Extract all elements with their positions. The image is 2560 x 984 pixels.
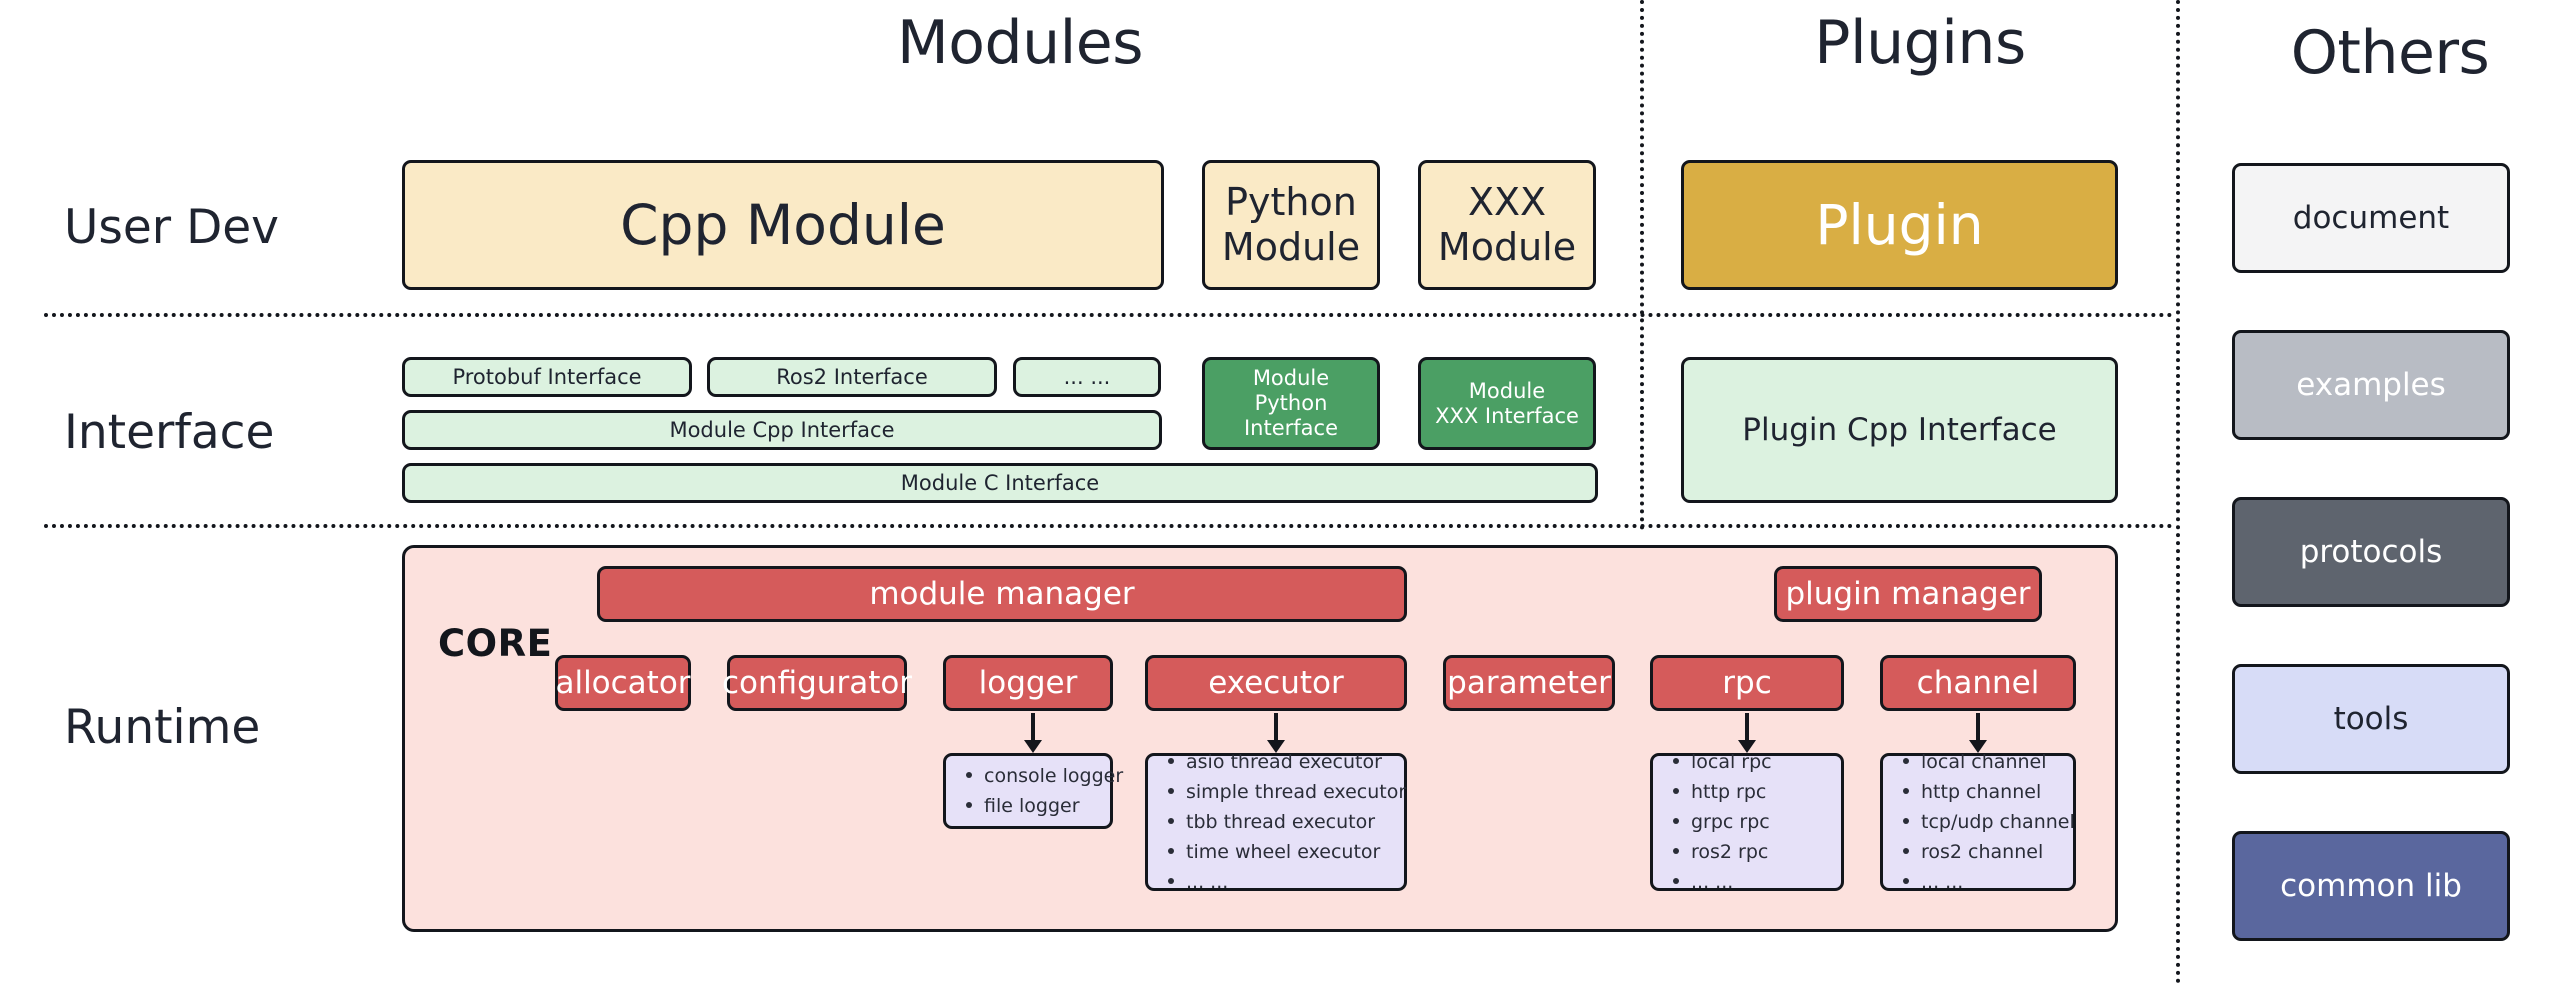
rpc-box[interactable]: rpc [1650,655,1844,711]
list-item: http rpc [1668,777,1828,807]
others-item-protocols[interactable]: protocols [2232,497,2510,607]
plugin-cpp-interface-label: Plugin Cpp Interface [1742,412,2056,449]
list-item: local channel [1898,747,2060,777]
divider-plugins-others [2176,0,2180,984]
channel-details-box: local channel http channel tcp/udp chann… [1880,753,2076,891]
cpp-module-box[interactable]: Cpp Module [402,160,1164,290]
module-c-interface-label: Module C Interface [901,471,1099,496]
others-item-tools[interactable]: tools [2232,664,2510,774]
xxx-module-box[interactable]: XXX Module [1418,160,1596,290]
others-common-lib-label: common lib [2280,868,2462,905]
others-tools-label: tools [2334,701,2409,738]
plugin-label: Plugin [1815,193,1983,258]
others-item-common-lib[interactable]: common lib [2232,831,2510,941]
row-label-user-dev: User Dev [64,200,279,255]
module-python-interface-box[interactable]: Module Python Interface [1202,357,1380,450]
ros2-interface-box[interactable]: Ros2 Interface [707,357,997,397]
module-c-interface-box[interactable]: Module C Interface [402,463,1598,503]
module-python-interface-label: Module Python Interface [1205,366,1377,440]
executor-details-box: asio thread executor simple thread execu… [1145,753,1407,891]
others-document-label: document [2293,200,2449,237]
channel-label: channel [1917,665,2040,702]
rpc-details-list: local rpc http rpc grpc rpc ros2 rpc ...… [1668,747,1828,897]
channel-details-list: local channel http channel tcp/udp chann… [1898,747,2060,897]
architecture-diagram: Modules Plugins Others User Dev Interfac… [0,0,2560,984]
arrow-logger-to-details [1023,713,1043,753]
logger-box[interactable]: logger [943,655,1113,711]
list-item: ros2 channel [1898,837,2060,867]
protobuf-interface-label: Protobuf Interface [452,365,641,390]
executor-details-list: asio thread executor simple thread execu… [1163,747,1391,897]
column-title-modules: Modules [400,8,1640,78]
cpp-module-label: Cpp Module [620,193,946,258]
list-item: tbb thread executor [1163,807,1391,837]
list-item: time wheel executor [1163,837,1391,867]
others-item-document[interactable]: document [2232,163,2510,273]
plugin-manager-label: plugin manager [1785,576,2030,613]
allocator-box[interactable]: allocator [555,655,691,711]
list-item: local rpc [1668,747,1828,777]
column-title-others: Others [2230,18,2550,88]
module-cpp-interface-box[interactable]: Module Cpp Interface [402,410,1162,450]
column-title-plugins: Plugins [1650,8,2190,78]
rpc-details-box: local rpc http rpc grpc rpc ros2 rpc ...… [1650,753,1844,891]
others-examples-label: examples [2296,367,2446,404]
others-item-examples[interactable]: examples [2232,330,2510,440]
executor-box[interactable]: executor [1145,655,1407,711]
row-label-runtime: Runtime [64,700,260,755]
others-protocols-label: protocols [2300,534,2443,571]
divider-userdev-interface [44,313,2174,317]
list-item: simple thread executor [1163,777,1391,807]
protobuf-interface-box[interactable]: Protobuf Interface [402,357,692,397]
plugin-cpp-interface-box[interactable]: Plugin Cpp Interface [1681,357,2118,503]
configurator-label: configurator [722,665,912,702]
ros2-interface-label: Ros2 Interface [776,365,928,390]
list-item: http channel [1898,777,2060,807]
executor-label: executor [1208,665,1344,702]
python-module-label: Python Module [1222,180,1360,270]
module-xxx-interface-label: Module XXX Interface [1435,379,1579,429]
plugin-manager-box[interactable]: plugin manager [1774,566,2042,622]
more-interface-box[interactable]: ... ... [1013,357,1161,397]
core-label: CORE [438,622,552,665]
channel-box[interactable]: channel [1880,655,2076,711]
logger-details-list: console logger file logger [961,761,1097,821]
list-item: file logger [961,791,1097,821]
list-item: asio thread executor [1163,747,1391,777]
logger-details-box: console logger file logger [943,753,1113,829]
list-item: tcp/udp channel [1898,807,2060,837]
configurator-box[interactable]: configurator [727,655,907,711]
list-item: ros2 rpc [1668,837,1828,867]
rpc-label: rpc [1722,665,1771,702]
list-item: grpc rpc [1668,807,1828,837]
logger-label: logger [979,665,1078,702]
list-item: console logger [961,761,1097,791]
parameter-box[interactable]: parameter [1443,655,1615,711]
module-manager-box[interactable]: module manager [597,566,1407,622]
list-item: ... ... [1898,867,2060,897]
divider-interface-runtime [44,524,2174,528]
divider-modules-plugins [1640,0,1644,530]
module-manager-label: module manager [869,576,1134,613]
module-cpp-interface-label: Module Cpp Interface [669,418,894,443]
xxx-module-label: XXX Module [1438,180,1576,270]
list-item: ... ... [1163,867,1391,897]
row-label-interface: Interface [64,405,274,460]
python-module-box[interactable]: Python Module [1202,160,1380,290]
plugin-box[interactable]: Plugin [1681,160,2118,290]
more-interface-label: ... ... [1064,365,1111,390]
parameter-label: parameter [1447,665,1611,702]
list-item: ... ... [1668,867,1828,897]
module-xxx-interface-box[interactable]: Module XXX Interface [1418,357,1596,450]
allocator-label: allocator [555,665,690,702]
